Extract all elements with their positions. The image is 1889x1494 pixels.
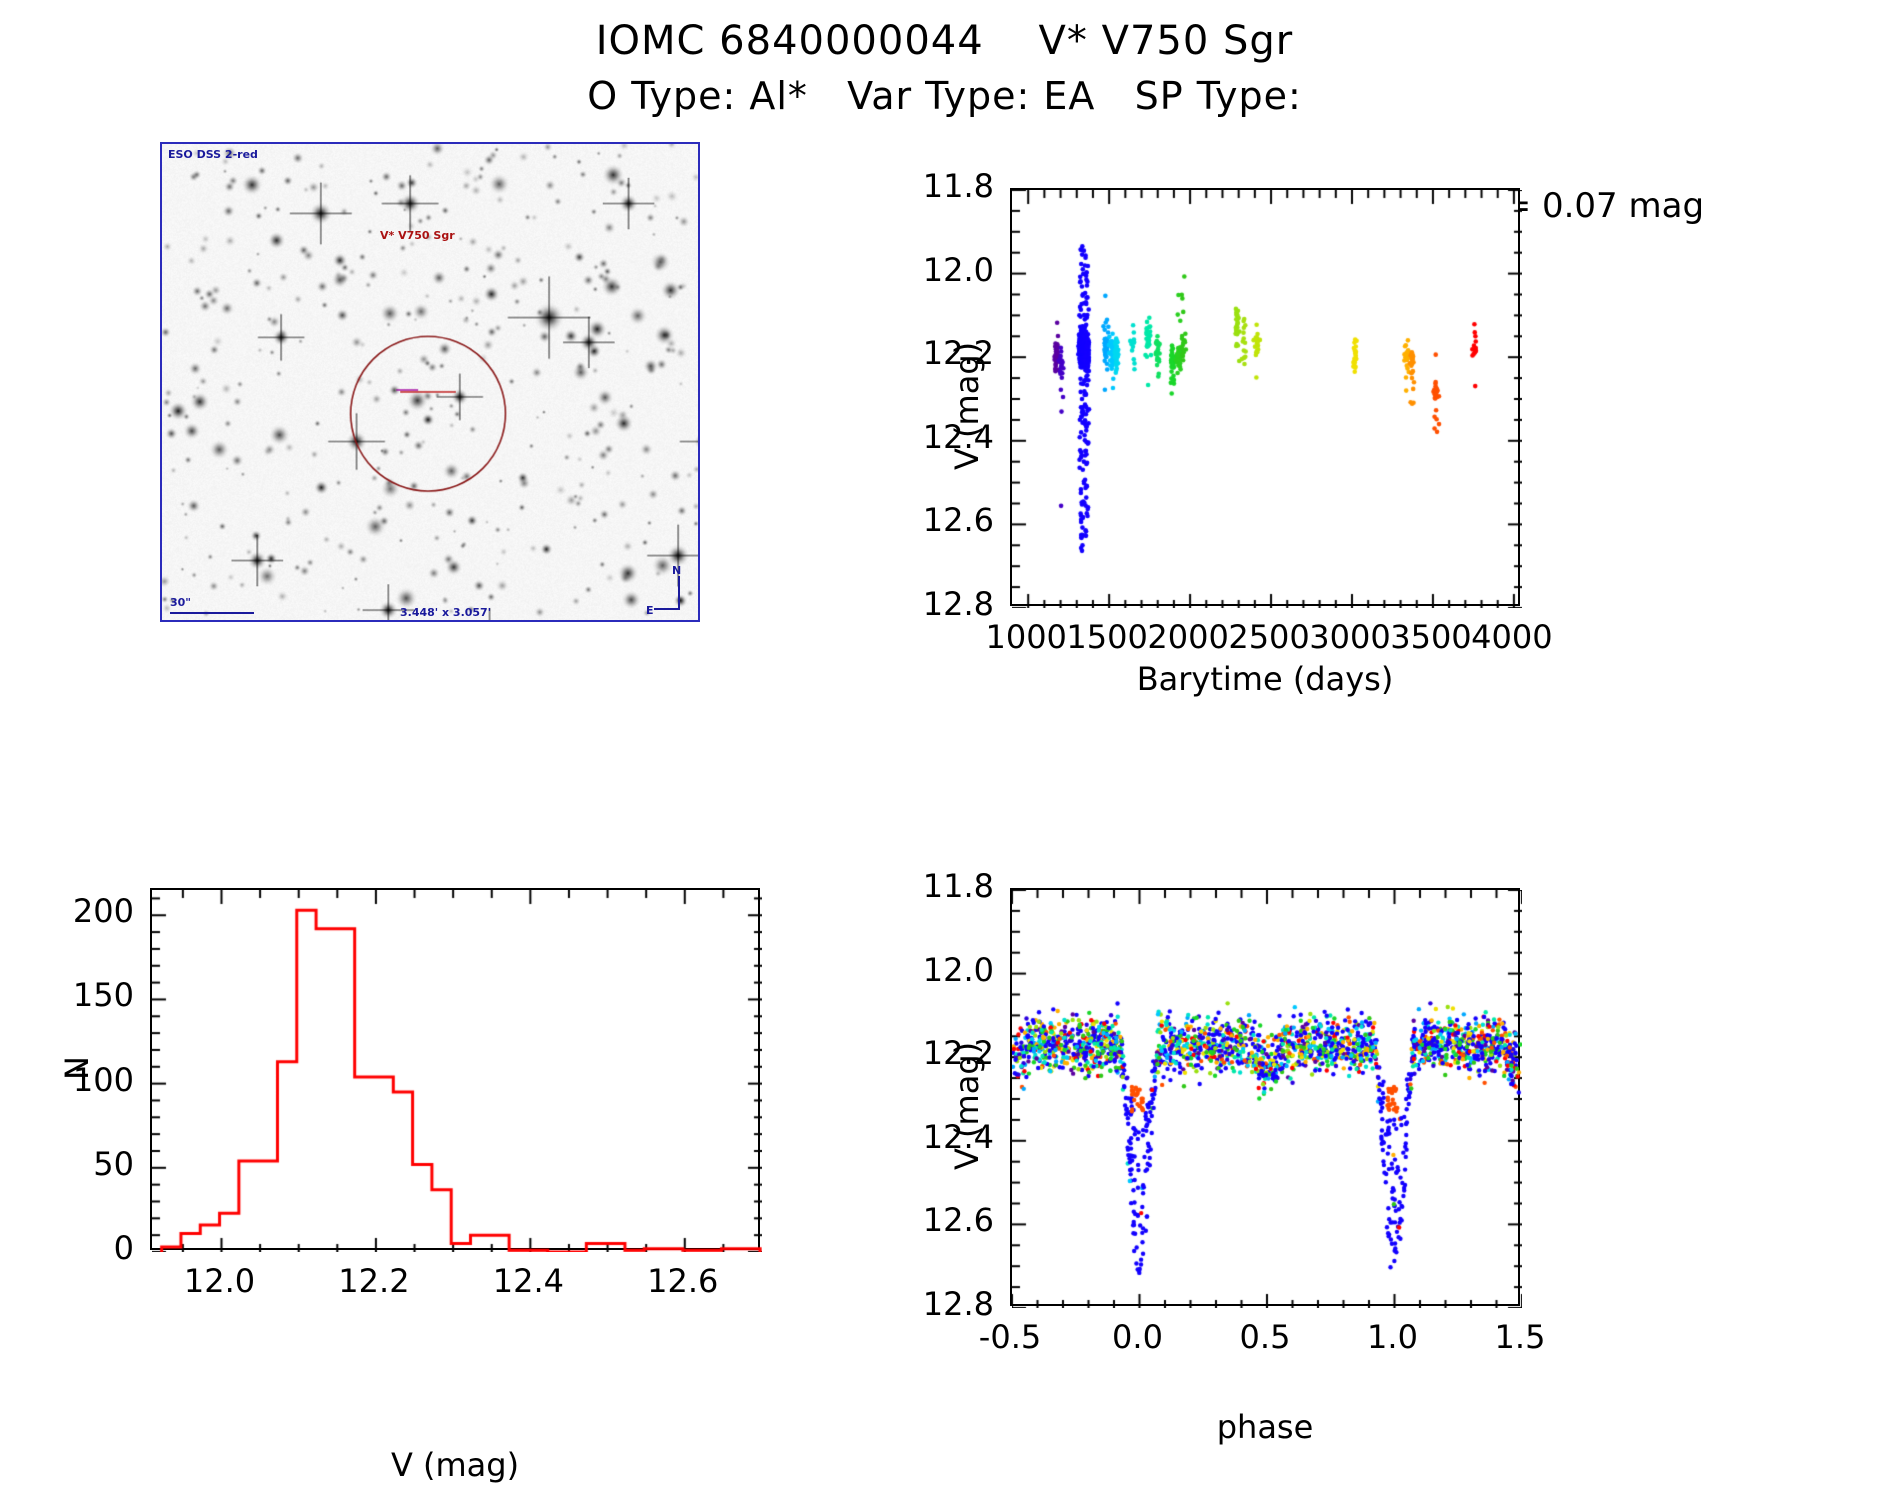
title-line-1: IOMC 6840000044 V* V750 Sgr	[0, 18, 1889, 64]
scale-bar-label: 30"	[170, 596, 191, 609]
ph-xticks-label: 1.0	[1323, 1318, 1463, 1356]
hist-yticks-label: 0	[0, 1229, 134, 1267]
phaseplot-x-axis-label: phase	[1010, 1408, 1520, 1446]
histogram-plot[interactable]	[150, 888, 760, 1250]
lc-yticks-label: 12.0	[854, 251, 994, 289]
scale-bar	[170, 612, 254, 614]
compass-east-arrow	[654, 608, 680, 610]
hist-xticks-label: 12.4	[458, 1262, 598, 1300]
hist-yticks-label: 50	[0, 1145, 134, 1183]
histogram-x-axis-label: V (mag)	[150, 1446, 760, 1484]
lightcurve-x-axis-label: Barytime (days)	[1010, 660, 1520, 698]
hist-yticks-label: 150	[0, 976, 134, 1014]
phaseplot-plot[interactable]	[1010, 888, 1520, 1306]
histogram-y-axis-label: N	[58, 1056, 96, 1080]
page-title: IOMC 6840000044 V* V750 Sgr O Type: Al* …	[0, 18, 1889, 118]
compass-north-arrow	[678, 576, 680, 610]
hist-xticks-label: 12.2	[304, 1262, 444, 1300]
ph-xticks-label: 1.5	[1450, 1318, 1590, 1356]
ph-xticks-label: 0.0	[1068, 1318, 1208, 1356]
object-label: V* V750 Sgr	[380, 229, 455, 242]
compass-east-label: E	[646, 604, 654, 617]
hist-yticks-label: 200	[0, 892, 134, 930]
ph-xticks-label: -0.5	[940, 1318, 1080, 1356]
hist-xticks-label: 12.6	[613, 1262, 753, 1300]
lightcurve-plot[interactable]	[1010, 188, 1520, 606]
ph-yticks-label: 12.6	[854, 1201, 994, 1239]
lc-xticks-label: 4000	[1442, 618, 1582, 656]
ph-yticks-label: 11.8	[854, 867, 994, 905]
title-line-2: O Type: Al* Var Type: EA SP Type:	[0, 74, 1889, 118]
ph-xticks-label: 0.5	[1195, 1318, 1335, 1356]
histogram-canvas	[152, 890, 762, 1252]
lc-yticks-label: 12.6	[854, 501, 994, 539]
survey-label: ESO DSS 2-red	[168, 148, 258, 161]
hist-xticks-label: 12.0	[149, 1262, 289, 1300]
lightcurve-y-axis-label: V (mag)	[948, 342, 986, 470]
lc-yticks-label: 11.8	[854, 167, 994, 205]
sky-survey-image[interactable]: ESO DSS 2-red V* V750 Sgr 30" 3.448' x 3…	[160, 142, 700, 622]
phaseplot-y-axis-label: V (mag)	[948, 1042, 986, 1170]
sky-image-canvas	[162, 144, 698, 620]
phaseplot-canvas	[1012, 890, 1522, 1308]
lightcurve-canvas	[1012, 190, 1522, 608]
field-size-label: 3.448' x 3.057'	[400, 606, 491, 619]
ph-yticks-label: 12.0	[854, 951, 994, 989]
